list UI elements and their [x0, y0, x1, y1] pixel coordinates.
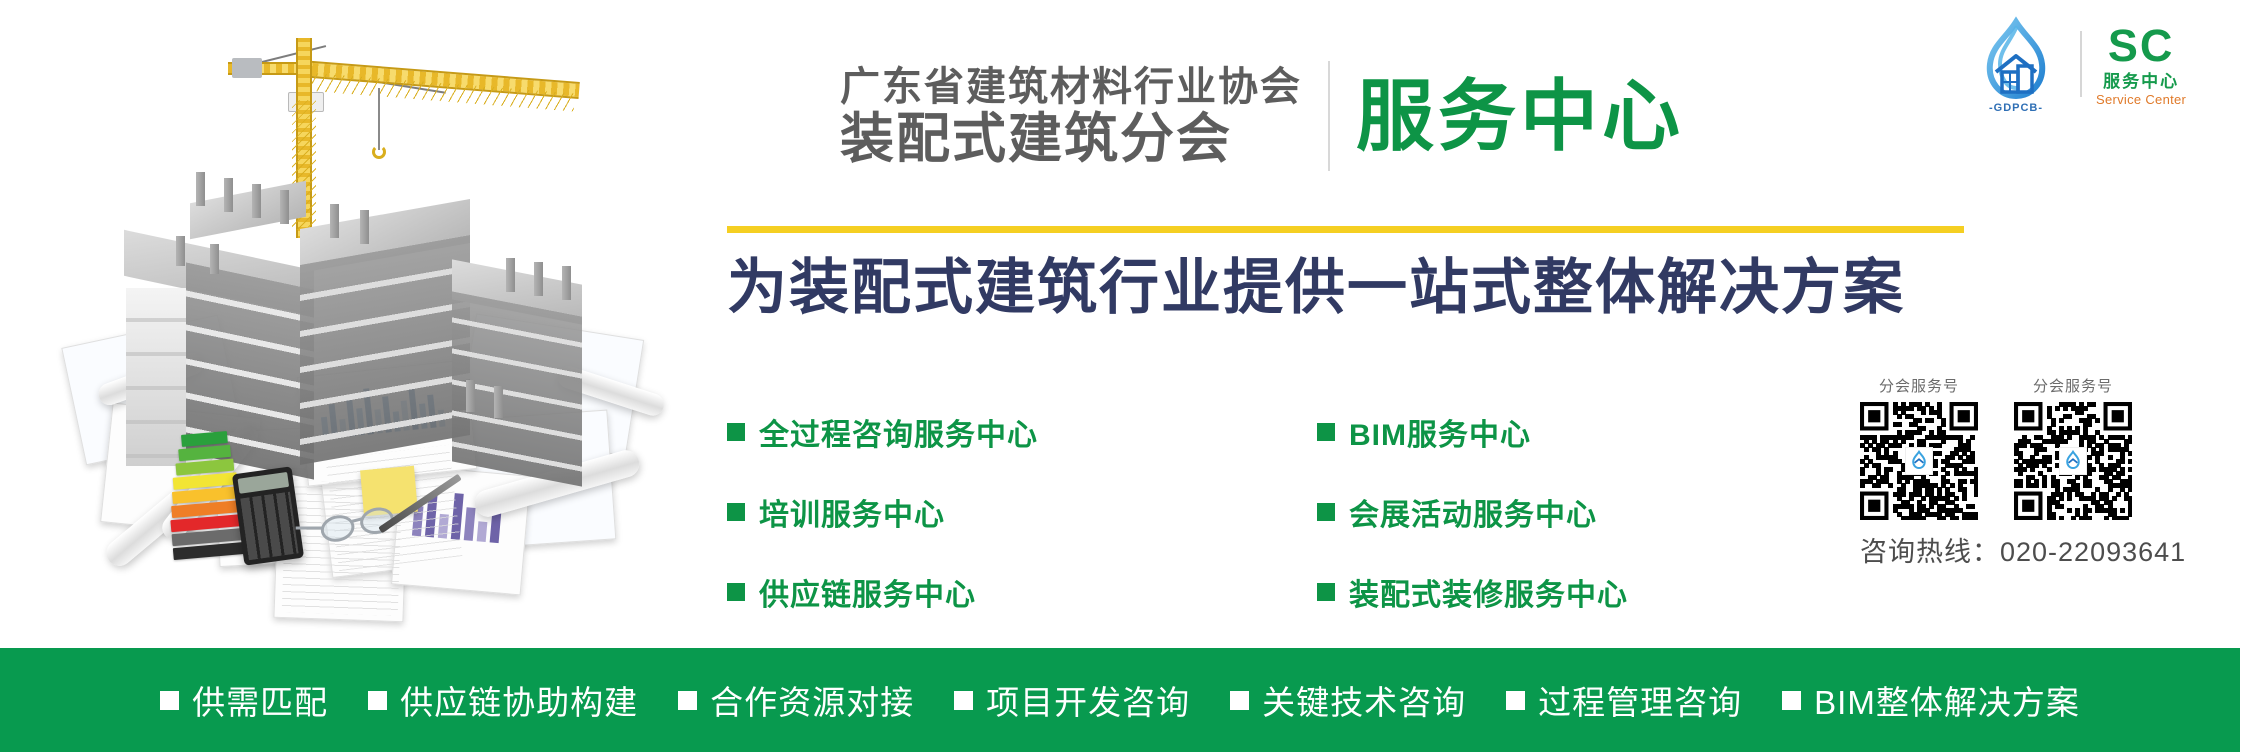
- square-bullet-icon: [1317, 503, 1335, 521]
- list-item[interactable]: 会展活动服务中心: [1317, 490, 1787, 534]
- service-label: 会展活动服务中心: [1349, 490, 1597, 534]
- square-bullet-icon: [1230, 691, 1249, 710]
- calculator-keypad: [240, 492, 298, 560]
- service-label: 培训服务中心: [759, 490, 945, 534]
- qr-code-image[interactable]: [2014, 402, 2132, 520]
- bottom-bar-label: 供需匹配: [192, 676, 328, 724]
- qr-contact-block: 分会服务号 分会服务号: [1860, 375, 2230, 569]
- bottom-bar-item[interactable]: 供需匹配: [160, 676, 328, 724]
- bottom-service-bar: 供需匹配 供应链协助构建 合作资源对接 项目开发咨询 关键技术咨询 过程管理咨询…: [0, 648, 2240, 752]
- bottom-bar-label: 过程管理咨询: [1538, 676, 1742, 724]
- service-center-logo: SC 服务中心 Service Center: [2096, 23, 2186, 106]
- square-bullet-icon: [368, 691, 387, 710]
- square-bullet-icon: [727, 583, 745, 601]
- square-bullet-icon: [160, 691, 179, 710]
- bottom-bar-label: 项目开发咨询: [986, 676, 1190, 724]
- service-label: 供应链服务中心: [759, 570, 976, 614]
- square-bullet-icon: [954, 691, 973, 710]
- square-bullet-icon: [678, 691, 697, 710]
- service-center-heading: 服务中心: [1356, 77, 1684, 155]
- qr-caption: 分会服务号: [1879, 375, 1959, 396]
- crane-hoist-line: [378, 88, 380, 150]
- bottom-bar-item[interactable]: BIM整体解决方案: [1782, 676, 2080, 724]
- brand-logo[interactable]: -GDPCB- SC 服务中心 Service Center: [1966, 14, 2234, 114]
- bottom-bar-item[interactable]: 关键技术咨询: [1230, 676, 1466, 724]
- bottom-bar-label: 合作资源对接: [710, 676, 914, 724]
- qr-cell[interactable]: 分会服务号: [1860, 375, 1978, 520]
- gdpcb-flame-house-icon: -GDPCB-: [1966, 16, 2066, 112]
- square-bullet-icon: [1506, 691, 1525, 710]
- calculator: [232, 466, 304, 565]
- bottom-bar-item[interactable]: 合作资源对接: [678, 676, 914, 724]
- bottom-bar-item[interactable]: 供应链协助构建: [368, 676, 638, 724]
- title-divider: [1328, 61, 1330, 171]
- list-item[interactable]: BIM服务中心: [1317, 410, 1787, 454]
- service-label: BIM服务中心: [1349, 410, 1531, 454]
- logo-divider: [2080, 31, 2082, 97]
- qr-caption: 分会服务号: [2033, 375, 2113, 396]
- crane-counterweight: [232, 58, 262, 78]
- page-tagline: 为装配式建筑行业提供一站式整体解决方案: [727, 252, 1905, 324]
- service-center-list: 全过程咨询服务中心 BIM服务中心 培训服务中心 会展活动服务中心 供应链服务中…: [727, 410, 1787, 614]
- service-label: 装配式装修服务中心: [1349, 570, 1628, 614]
- qr-center-logo-icon: [1905, 447, 1933, 475]
- banner-title: 广东省建筑材料行业协会 装配式建筑分会 服务中心: [840, 52, 1684, 180]
- sc-english-label: Service Center: [2096, 93, 2186, 106]
- bottom-bar-item[interactable]: 项目开发咨询: [954, 676, 1190, 724]
- square-bullet-icon: [727, 503, 745, 521]
- bottom-bar-label: 关键技术咨询: [1262, 676, 1466, 724]
- list-item[interactable]: 供应链服务中心: [727, 570, 1317, 614]
- qr-row: 分会服务号 分会服务号: [1860, 375, 2230, 520]
- square-bullet-icon: [1317, 423, 1335, 441]
- bottom-bar-label: BIM整体解决方案: [1814, 676, 2080, 724]
- list-item[interactable]: 全过程咨询服务中心: [727, 410, 1317, 454]
- bottom-bar-label: 供应链协助构建: [400, 676, 638, 724]
- floor-slab-stack: [300, 235, 470, 465]
- association-name: 广东省建筑材料行业协会 装配式建筑分会: [840, 64, 1302, 168]
- crane-hook-icon: [372, 145, 386, 159]
- sc-chinese-label: 服务中心: [2103, 73, 2179, 90]
- hotline-text: 咨询热线：020-22093641: [1860, 530, 2230, 569]
- hero-illustration: [0, 0, 690, 640]
- yellow-divider-rule: [727, 226, 1964, 233]
- bottom-bar-item[interactable]: 过程管理咨询: [1506, 676, 1742, 724]
- square-bullet-icon: [1317, 583, 1335, 601]
- hero-stage: [0, 0, 690, 640]
- list-item[interactable]: 培训服务中心: [727, 490, 1317, 534]
- square-bullet-icon: [1782, 691, 1801, 710]
- square-bullet-icon: [727, 423, 745, 441]
- qr-code-image[interactable]: [1860, 402, 1978, 520]
- qr-center-logo-icon: [2059, 447, 2087, 475]
- service-label: 全过程咨询服务中心: [759, 410, 1038, 454]
- gdpcb-wordmark: -GDPCB-: [1966, 102, 2066, 114]
- association-line-2: 装配式建筑分会: [840, 111, 1302, 168]
- promo-banner: -GDPCB- SC 服务中心 Service Center 广东省建筑材料行业…: [0, 0, 2246, 752]
- sc-initials: SC: [2108, 23, 2175, 68]
- qr-cell[interactable]: 分会服务号: [2014, 375, 2132, 520]
- list-item[interactable]: 装配式装修服务中心: [1317, 570, 1787, 614]
- calculator-display: [238, 472, 290, 494]
- association-line-1: 广东省建筑材料行业协会: [840, 64, 1302, 111]
